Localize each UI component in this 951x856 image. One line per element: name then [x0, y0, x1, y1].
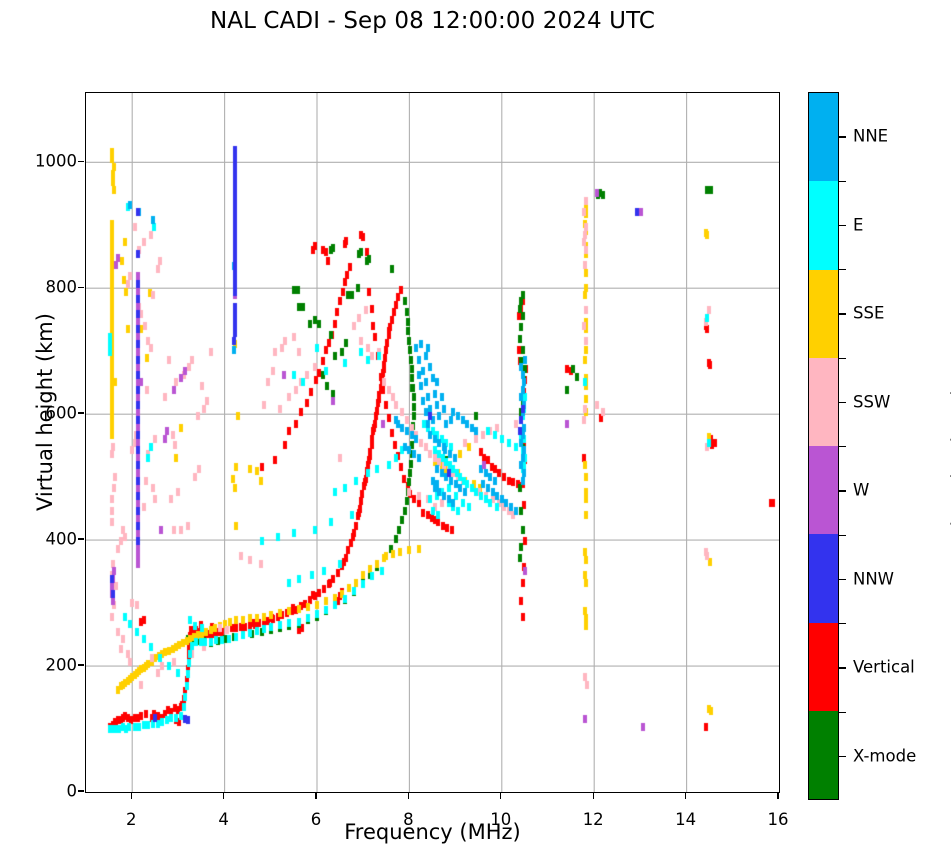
colorbar-tick-6: [839, 667, 846, 668]
colorbar-label-e: E: [853, 215, 863, 234]
colorbar-band-x-mode[interactable]: [809, 711, 838, 799]
colorbar-separator-7: [839, 712, 846, 713]
y-tick-mark-0: [78, 790, 84, 791]
colorbar-separator-5: [839, 535, 846, 536]
x-tick-mark-7: [777, 793, 778, 799]
colorbar-separator-4: [839, 446, 846, 447]
colorbar-tick-1: [839, 225, 846, 226]
colorbar-band-sse[interactable]: [809, 270, 838, 358]
colorbar-label-sse: SSE: [853, 304, 884, 323]
colorbar-tick-4: [839, 490, 846, 491]
y-tick-mark-2: [78, 538, 84, 539]
colorbar-label-ssw: SSW: [853, 392, 890, 411]
colorbar-tick-7: [839, 756, 846, 757]
colorbar-tick-3: [839, 402, 846, 403]
colorbar-band-e[interactable]: [809, 181, 838, 269]
y-tick-mark-3: [78, 412, 84, 413]
y-tick-label-5: 1000: [35, 152, 77, 171]
x-tick-mark-1: [223, 793, 224, 799]
x-tick-mark-5: [593, 793, 594, 799]
colorbar-separator-3: [839, 358, 846, 359]
colorbar-label-nnw: NNW: [853, 569, 894, 588]
y-tick-mark-1: [78, 664, 84, 665]
colorbar-band-nnw[interactable]: [809, 534, 838, 622]
x-tick-mark-6: [685, 793, 686, 799]
x-tick-mark-3: [408, 793, 409, 799]
colorbar-tick-5: [839, 579, 846, 580]
page-title: NAL CADI - Sep 08 12:00:00 2024 UTC: [0, 8, 865, 34]
ionogram-figure: NAL CADI - Sep 08 12:00:00 2024 UTC 0200…: [0, 0, 951, 856]
colorbar-band-nne[interactable]: [809, 93, 838, 181]
colorbar-band-vertical[interactable]: [809, 623, 838, 711]
plot-area[interactable]: [85, 92, 780, 793]
x-tick-mark-2: [315, 793, 316, 799]
colorbar-label-nne: NNE: [853, 127, 888, 146]
y-tick-mark-4: [78, 287, 84, 288]
x-axis-label: Frequency (MHz): [85, 820, 780, 844]
colorbar-band-ssw[interactable]: [809, 358, 838, 446]
colorbar-separator-2: [839, 269, 846, 270]
y-axis-label: Virtual height (km): [33, 212, 57, 612]
x-tick-mark-0: [131, 793, 132, 799]
colorbar-band-w[interactable]: [809, 446, 838, 534]
colorbar[interactable]: NNEESSESSWWNNWVerticalX-mode: [808, 92, 839, 800]
colorbar-separator-1: [839, 181, 846, 182]
y-tick-label-0: 0: [67, 782, 78, 801]
x-tick-mark-4: [500, 793, 501, 799]
colorbar-tick-2: [839, 313, 846, 314]
y-tick-mark-5: [78, 161, 84, 162]
colorbar-separator-6: [839, 623, 846, 624]
colorbar-label-x-mode: X-mode: [853, 746, 916, 765]
colorbar-tick-0: [839, 136, 846, 137]
y-tick-label-1: 200: [46, 656, 78, 675]
scatter-canvas[interactable]: [86, 93, 779, 792]
colorbar-label-w: W: [853, 481, 869, 500]
colorbar-label-vertical: Vertical: [853, 658, 915, 677]
colorbar-gradient: [808, 92, 839, 800]
